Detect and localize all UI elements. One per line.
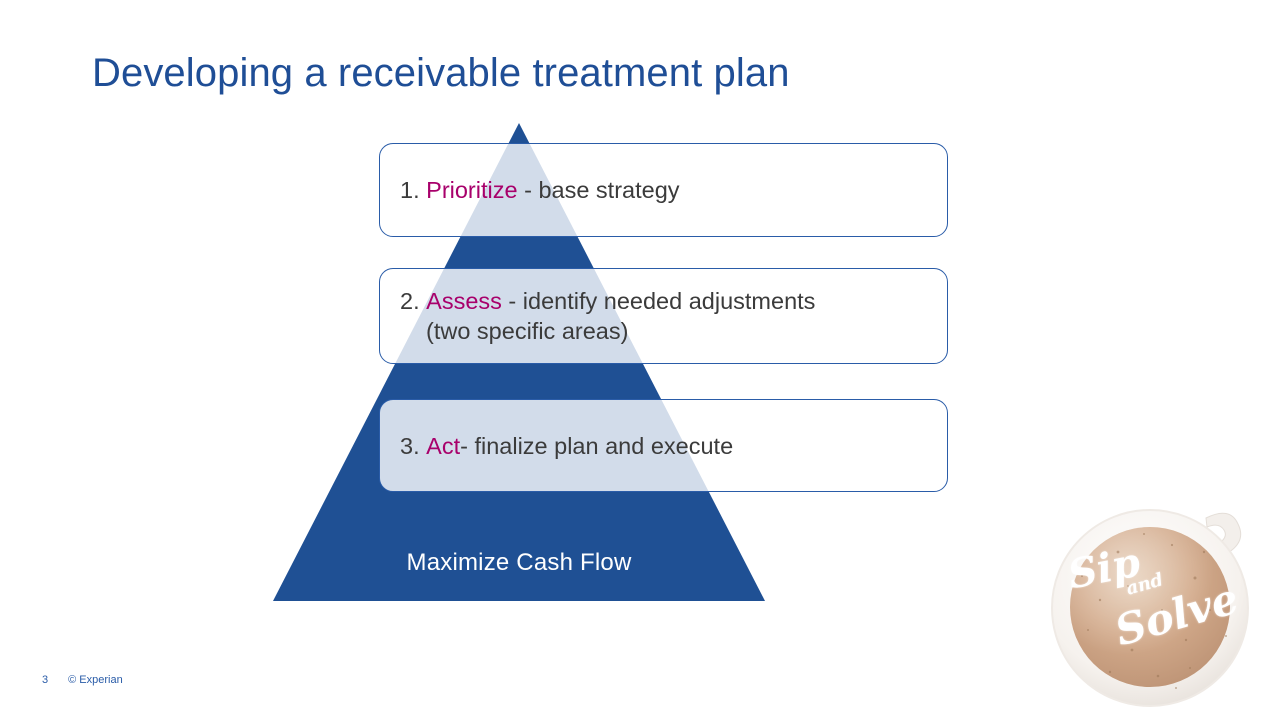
step-box-2[interactable]: 2. Assess - identify needed adjustments … xyxy=(379,268,948,364)
sip-and-solve-logo: Sip and Solve xyxy=(1040,490,1280,720)
step-2-text: 2. Assess - identify needed adjustments … xyxy=(400,286,815,346)
step-1-text: 1. Prioritize - base strategy xyxy=(400,175,680,205)
step-3-keyword: Act xyxy=(426,433,460,459)
pyramid-base-caption: Maximize Cash Flow xyxy=(0,548,1038,578)
step-2-line2: (two specific areas) xyxy=(400,316,815,346)
slide-footer: 3 © Experian xyxy=(42,672,123,688)
step-2-rest: - identify needed adjustments xyxy=(502,288,816,314)
step-1-keyword: Prioritize xyxy=(426,177,517,203)
step-box-3[interactable]: 3. Act- finalize plan and execute xyxy=(379,399,948,492)
step-3-number: 3. xyxy=(400,433,420,459)
step-1-rest: - base strategy xyxy=(518,177,680,203)
step-3-text: 3. Act- finalize plan and execute xyxy=(400,431,733,461)
coffee-cup-icon xyxy=(1040,490,1280,720)
step-box-1[interactable]: 1. Prioritize - base strategy xyxy=(379,143,948,237)
pyramid-base-caption-text: Maximize Cash Flow xyxy=(407,548,632,578)
step-3-rest: - finalize plan and execute xyxy=(460,433,733,459)
step-1-number: 1. xyxy=(400,177,420,203)
step-2-number: 2. xyxy=(400,288,420,314)
page-title: Developing a receivable treatment plan xyxy=(92,48,790,98)
footer-copyright: © Experian xyxy=(68,672,123,688)
step-2-keyword: Assess xyxy=(426,288,502,314)
footer-page-number: 3 xyxy=(42,672,48,688)
